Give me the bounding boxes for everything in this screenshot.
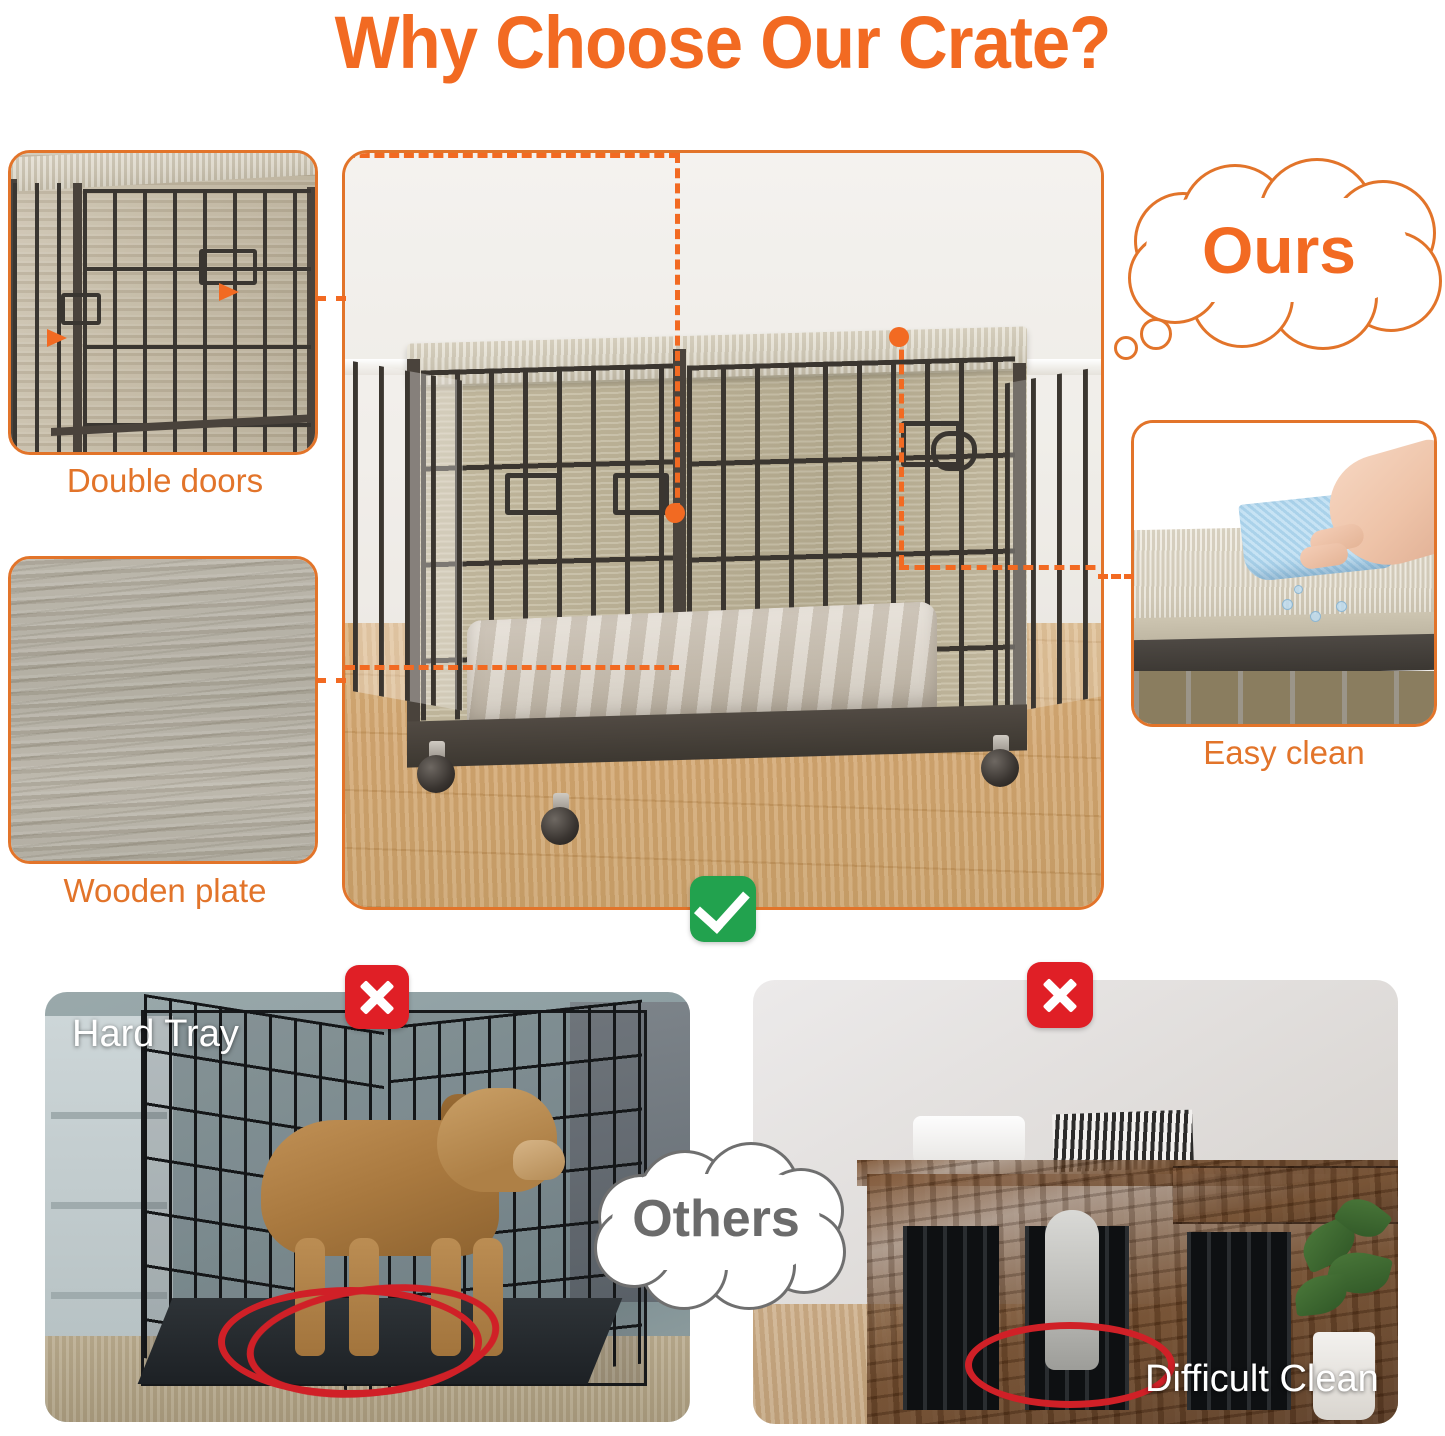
feature-panel-double-doors	[8, 150, 318, 455]
door-left-bars	[353, 361, 463, 710]
main-product-panel	[342, 150, 1104, 910]
hard-tray-label: Hard Tray	[72, 1012, 239, 1056]
double-doors-image	[11, 153, 315, 452]
latch-arrow-right-icon	[219, 283, 239, 301]
latch-left	[505, 473, 561, 515]
feature-panel-easy-clean	[1131, 420, 1437, 727]
connector-gutter-doubledoors	[316, 296, 346, 301]
ours-speech-bubble: Ours	[1118, 158, 1440, 344]
latch-right-hook	[931, 431, 977, 471]
water-drop-1	[1282, 599, 1293, 610]
caption-double-doors: Double doors	[0, 462, 330, 500]
water-drop-4	[1294, 585, 1303, 594]
connector-line-wood-vertical	[899, 335, 904, 565]
x-badge-right	[1027, 962, 1093, 1028]
difficult-clean-highlight-ellipse	[965, 1322, 1175, 1408]
water-drop-3	[1336, 601, 1347, 612]
x-badge-left	[345, 965, 409, 1029]
feature-panel-wooden-plate	[8, 556, 318, 864]
ours-label: Ours	[1118, 210, 1440, 290]
dog-snout	[513, 1140, 565, 1180]
caster-front-center	[541, 793, 581, 845]
connector-dot-wood-top	[889, 327, 909, 347]
caption-easy-clean: Easy clean	[1121, 734, 1445, 772]
wood-grain-texture	[11, 559, 315, 861]
caster-front-left	[417, 741, 457, 793]
page-title: Why Choose Our Crate?	[51, 2, 1395, 84]
door-right-bars	[1005, 367, 1101, 714]
others-speech-bubble: Others	[590, 1140, 842, 1306]
main-product-image	[345, 153, 1101, 907]
connector-line-top-vertical	[675, 153, 680, 513]
check-icon	[693, 876, 749, 933]
easy-clean-image	[1134, 423, 1434, 724]
door-latch-left	[61, 293, 101, 325]
caster-back-right	[981, 735, 1021, 787]
crate-door-right-open	[1005, 367, 1101, 714]
crate-slats	[1134, 671, 1434, 724]
connector-line-top-horizontal	[345, 153, 679, 158]
bubble-tail-large	[1140, 318, 1172, 350]
crate-dark-rail	[1134, 634, 1434, 677]
others-label: Others	[590, 1186, 842, 1252]
check-badge	[690, 876, 756, 942]
wire-rails-front	[83, 189, 311, 452]
bubble-tail-small	[1114, 336, 1138, 360]
connector-dot-latch	[665, 503, 685, 523]
caption-wooden-plate: Wooden plate	[0, 872, 330, 910]
water-drop-2	[1310, 611, 1321, 622]
connector-line-easyclean	[899, 565, 1101, 570]
latch-arrow-left-icon	[47, 329, 67, 347]
wooden-plate-image	[11, 559, 315, 861]
crate-door-left-open	[353, 361, 463, 710]
x-icon	[1040, 975, 1080, 1015]
connector-line-plate	[345, 665, 679, 670]
connector-gutter-woodenplate	[316, 678, 346, 683]
latch-center	[613, 473, 669, 515]
door-latch-right	[199, 249, 257, 285]
x-icon	[357, 977, 397, 1017]
difficult-clean-label: Difficult Clean	[1145, 1357, 1379, 1401]
connector-gutter-easyclean	[1098, 574, 1134, 579]
